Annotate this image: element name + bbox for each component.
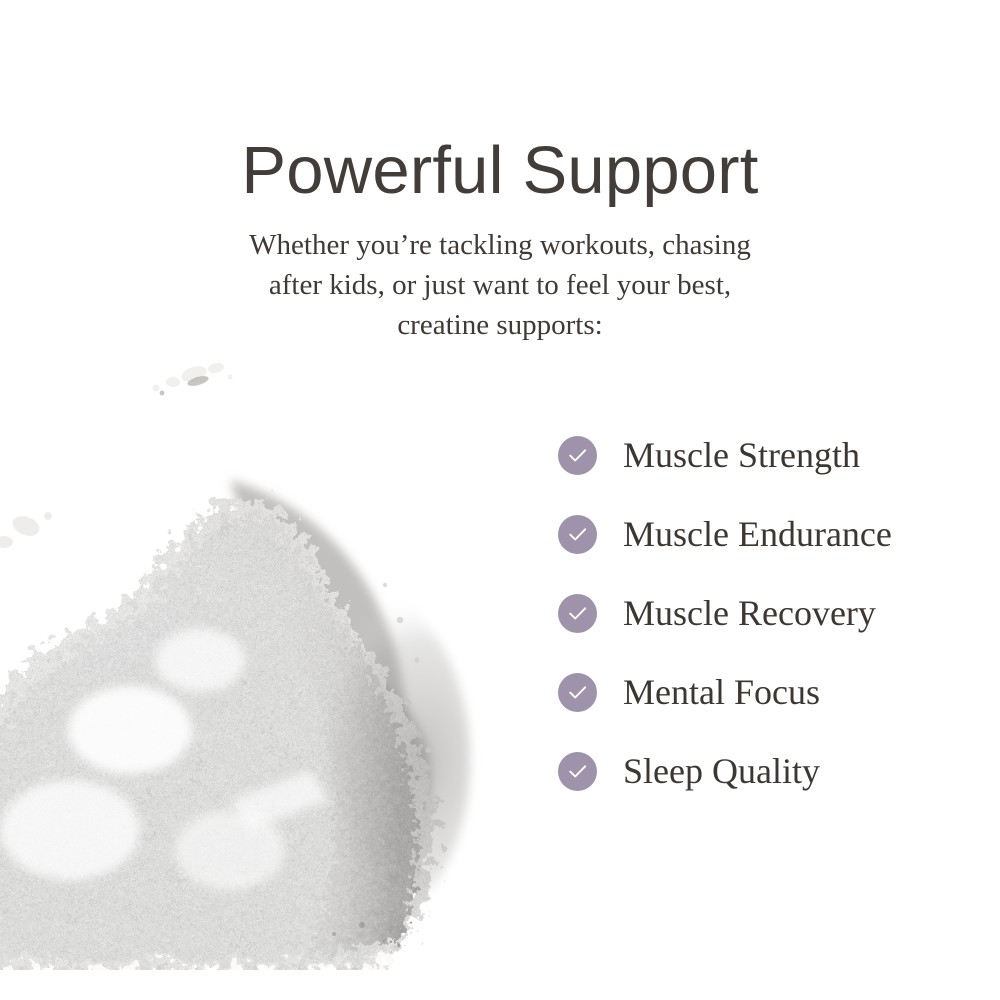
subtitle-line-3: creatine supports:: [150, 305, 850, 345]
subtitle-line-1: Whether you’re tackling workouts, chasin…: [150, 225, 850, 265]
subtitle-line-2: after kids, or just want to feel your be…: [150, 265, 850, 305]
check-circle-icon: [558, 673, 597, 712]
benefit-label: Sleep Quality: [623, 749, 820, 793]
check-circle-icon: [558, 436, 597, 475]
check-circle-icon: [558, 752, 597, 791]
list-item: Muscle Recovery: [558, 591, 988, 670]
creatine-powder-mound: [0, 330, 570, 970]
benefit-label: Muscle Recovery: [623, 591, 876, 635]
page-title: Powerful Support: [0, 131, 1000, 211]
benefit-label: Muscle Endurance: [623, 512, 892, 556]
list-item: Muscle Endurance: [558, 512, 988, 591]
benefits-list: Muscle Strength Muscle Endurance Muscle …: [558, 433, 988, 828]
check-circle-icon: [558, 515, 597, 554]
subtitle: Whether you’re tackling workouts, chasin…: [150, 225, 850, 345]
list-item: Mental Focus: [558, 670, 988, 749]
check-circle-icon: [558, 594, 597, 633]
benefit-label: Mental Focus: [623, 670, 820, 714]
benefit-label: Muscle Strength: [623, 433, 860, 477]
list-item: Muscle Strength: [558, 433, 988, 512]
list-item: Sleep Quality: [558, 749, 988, 828]
promo-graphic: Powerful Support Whether you’re tackling…: [0, 0, 1000, 1000]
